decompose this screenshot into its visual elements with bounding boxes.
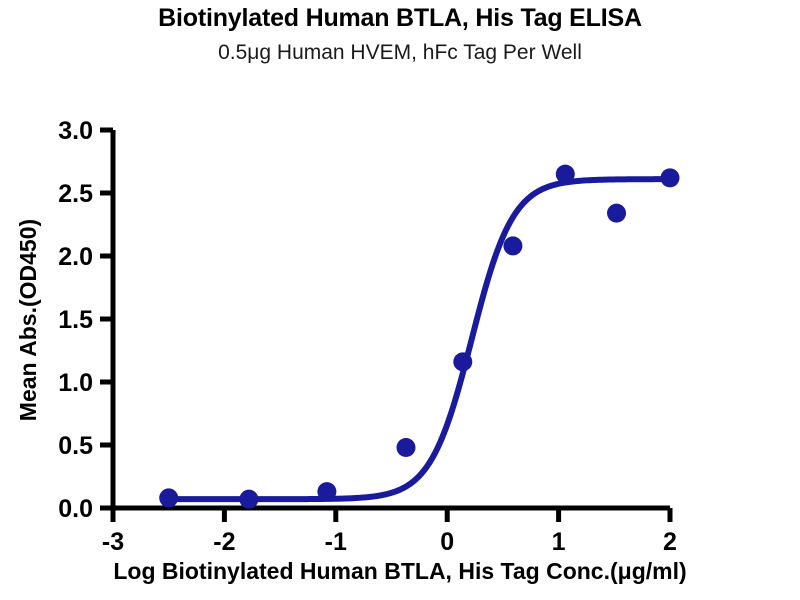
y-tick-label: 0.5 bbox=[58, 432, 93, 460]
plot-area: 0.00.51.01.52.02.53.0 -3-2-1012 Mean Abs… bbox=[0, 0, 800, 600]
data-point bbox=[607, 204, 626, 223]
data-point bbox=[503, 236, 522, 255]
x-axis-title: Log Biotinylated Human BTLA, His Tag Con… bbox=[0, 558, 800, 585]
y-tick-label: 2.5 bbox=[58, 180, 93, 208]
data-point bbox=[556, 165, 575, 184]
data-point bbox=[159, 488, 178, 507]
data-point bbox=[396, 438, 415, 457]
data-point bbox=[317, 482, 336, 501]
y-axis-ticks: 0.00.51.01.52.02.53.0 bbox=[58, 117, 113, 523]
y-tick-label: 2.0 bbox=[58, 243, 93, 271]
x-tick-label: -2 bbox=[213, 528, 235, 556]
x-tick-label: -1 bbox=[325, 528, 347, 556]
data-point bbox=[661, 168, 680, 187]
x-axis-ticks: -3-2-1012 bbox=[102, 508, 677, 556]
fitted-curve bbox=[169, 179, 670, 499]
axis-lines bbox=[111, 130, 671, 508]
y-tick-label: 3.0 bbox=[58, 117, 93, 145]
data-point bbox=[239, 490, 258, 509]
y-axis-title: Mean Abs.(OD450) bbox=[15, 219, 41, 421]
y-tick-label: 1.0 bbox=[58, 369, 93, 397]
y-tick-label: 1.5 bbox=[58, 306, 93, 334]
x-tick-label: 2 bbox=[663, 528, 677, 556]
sigmoid-fit-curve bbox=[169, 179, 670, 499]
data-point bbox=[453, 352, 472, 371]
x-tick-label: 0 bbox=[440, 528, 454, 556]
x-tick-label: 1 bbox=[552, 528, 566, 556]
y-tick-label: 0.0 bbox=[58, 495, 93, 523]
x-tick-label: -3 bbox=[102, 528, 124, 556]
data-points bbox=[159, 165, 679, 509]
elisa-chart-figure: Biotinylated Human BTLA, His Tag ELISA 0… bbox=[0, 0, 800, 600]
